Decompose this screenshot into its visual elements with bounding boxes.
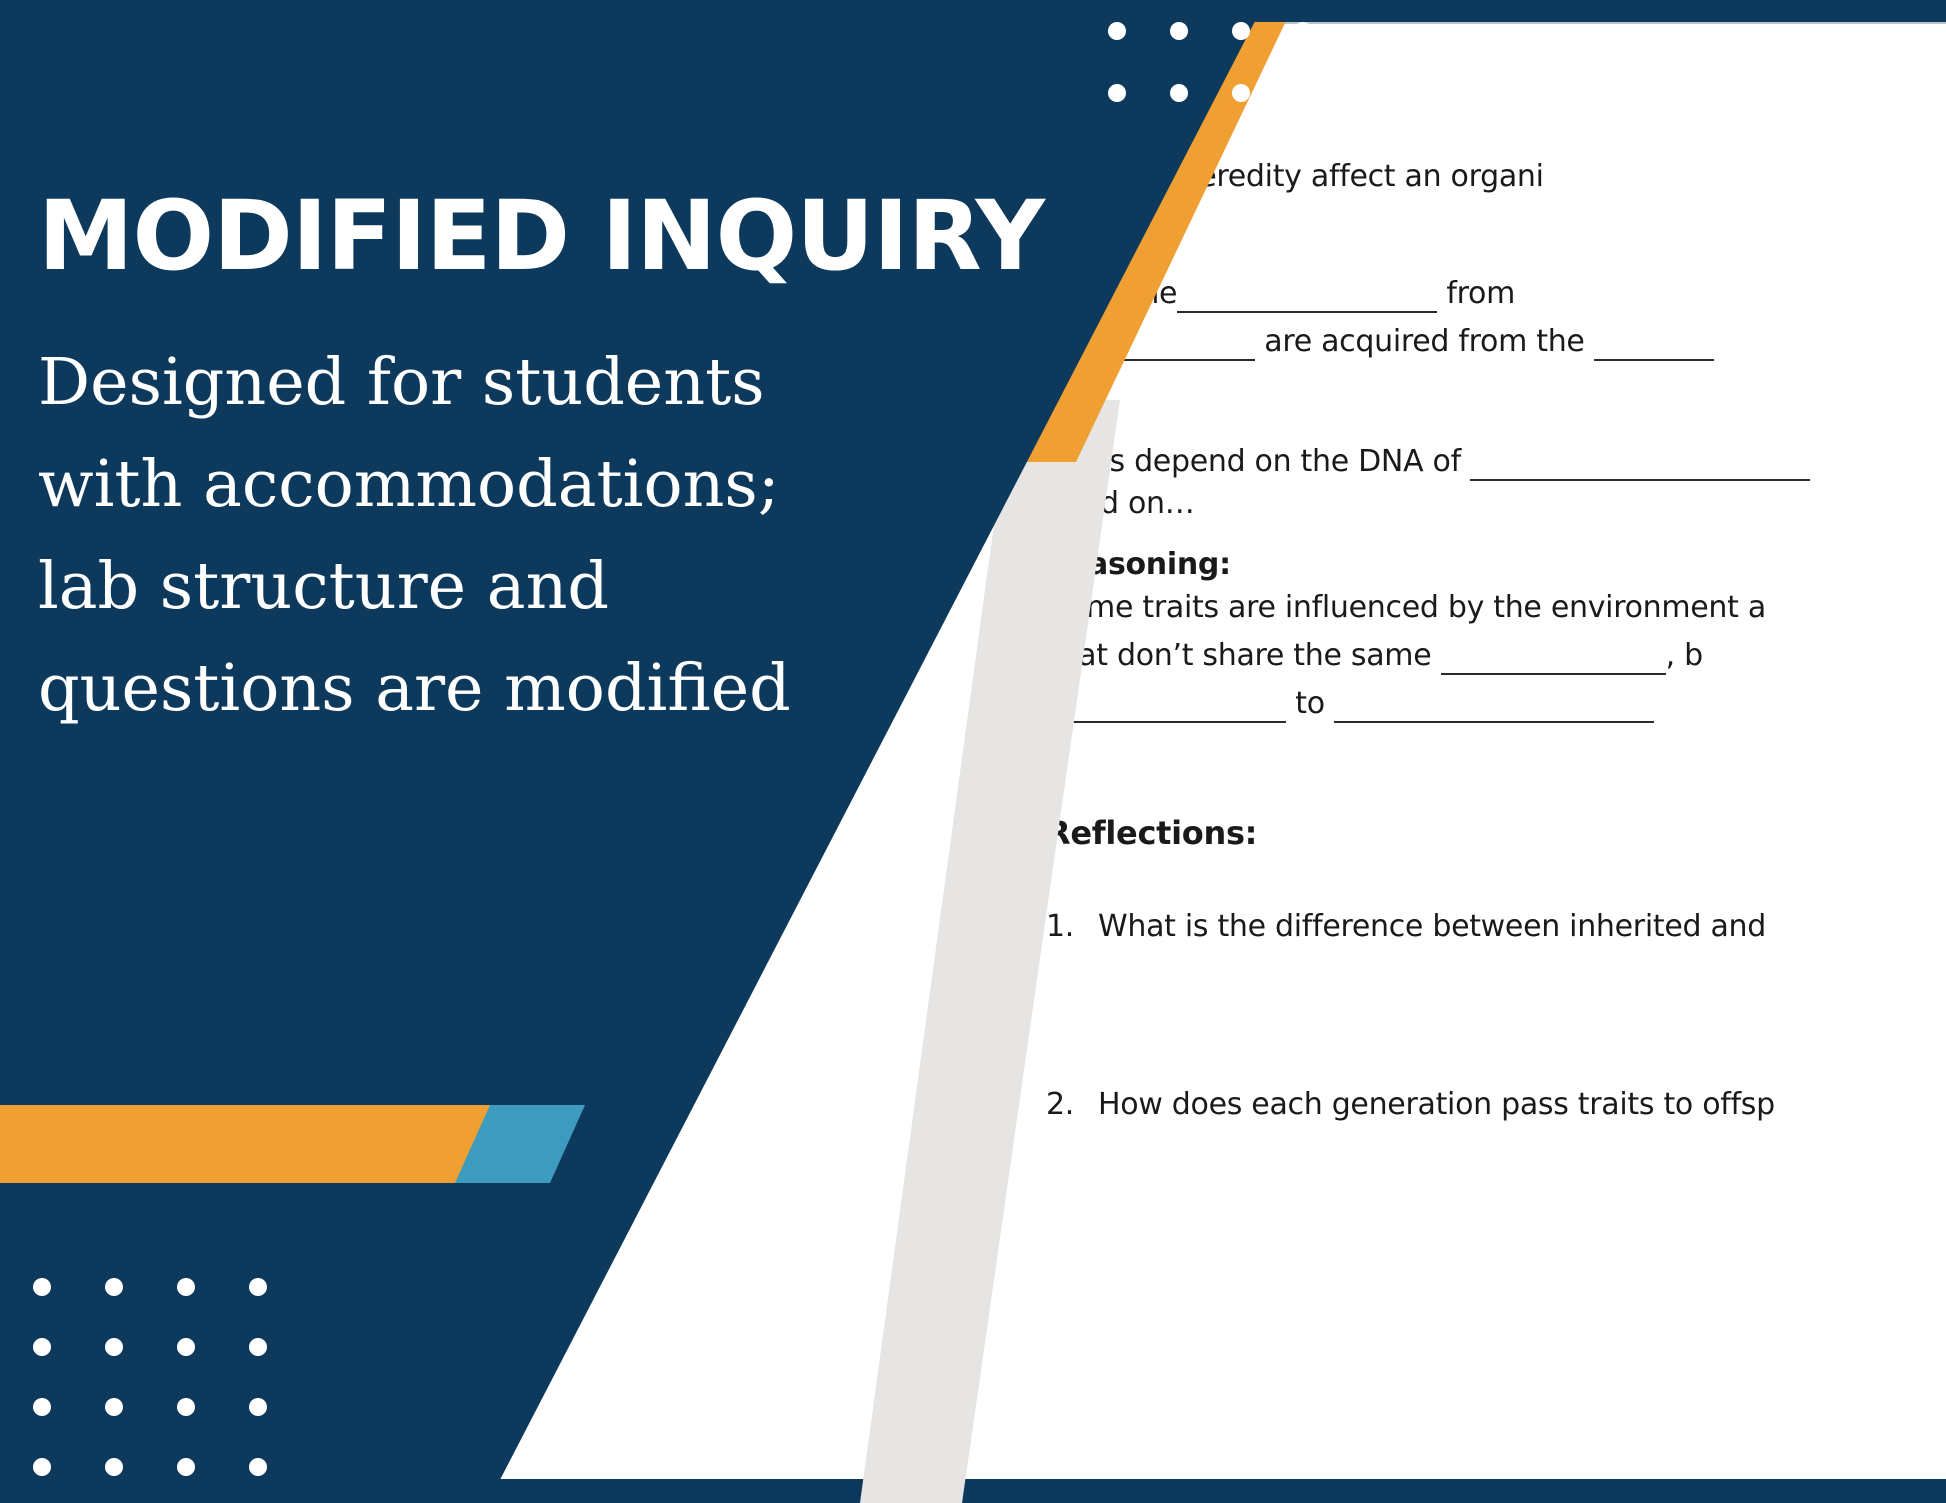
page-subtitle: Designed for students with accommodation… bbox=[38, 332, 898, 740]
dot-icon bbox=[33, 1398, 51, 1416]
dot-icon bbox=[177, 1458, 195, 1476]
worksheet-text-colon: : bbox=[1219, 547, 1231, 582]
dot-icon bbox=[105, 1338, 123, 1356]
worksheet-text: are acquired from the bbox=[1264, 324, 1584, 359]
dot-icon bbox=[249, 1338, 267, 1356]
worksheet-blank[interactable] bbox=[1334, 691, 1654, 723]
dot-icon bbox=[1170, 22, 1188, 40]
dot-icon bbox=[1232, 84, 1250, 102]
dot-grid-bottom-left bbox=[33, 1278, 267, 1476]
dot-icon bbox=[105, 1398, 123, 1416]
dot-icon bbox=[1170, 84, 1188, 102]
dot-icon bbox=[1108, 84, 1126, 102]
accent-bar-orange bbox=[0, 1105, 500, 1183]
page-title: MODIFIED INQUIRY bbox=[38, 188, 1048, 284]
dot-icon bbox=[177, 1398, 195, 1416]
dot-icon bbox=[1294, 22, 1312, 40]
worksheet-heading-reasoning: asoning: bbox=[1088, 547, 1231, 582]
worksheet-line-environment: ome traits are influenced by the environ… bbox=[1068, 590, 1766, 625]
worksheet-blank[interactable] bbox=[1177, 281, 1437, 313]
dot-icon bbox=[105, 1278, 123, 1296]
dot-icon bbox=[177, 1338, 195, 1356]
worksheet-text: its depend on the DNA of bbox=[1090, 444, 1461, 479]
worksheet-line-and-on: d on… bbox=[1100, 486, 1194, 521]
worksheet-blank[interactable] bbox=[1470, 449, 1810, 481]
worksheet-text: , b bbox=[1666, 638, 1703, 673]
worksheet-line-dna: its depend on the DNA of bbox=[1090, 444, 1810, 481]
worksheet-reflection-item-2: 2.How does each generation pass traits t… bbox=[1046, 1087, 1775, 1122]
worksheet-text: to bbox=[1295, 686, 1325, 721]
dot-icon bbox=[1232, 22, 1250, 40]
dot-icon bbox=[177, 1278, 195, 1296]
dot-icon bbox=[105, 1458, 123, 1476]
list-number: 1. bbox=[1046, 909, 1098, 944]
worksheet-text: ome traits are influenced by the environ… bbox=[1068, 590, 1766, 625]
dot-icon bbox=[1294, 84, 1312, 102]
dot-icon bbox=[33, 1338, 51, 1356]
worksheet-text: What is the difference between inherited… bbox=[1098, 909, 1766, 944]
dot-grid-top-right bbox=[1108, 22, 1312, 102]
worksheet-line-blank-to-blank: to bbox=[1036, 686, 1654, 723]
dot-icon bbox=[33, 1458, 51, 1476]
worksheet-text: from bbox=[1446, 276, 1515, 311]
worksheet-reflection-item-1: 1.What is the difference between inherit… bbox=[1046, 909, 1766, 944]
dot-icon bbox=[249, 1398, 267, 1416]
worksheet-line-same: that don’t share the same , b bbox=[1048, 638, 1703, 675]
dot-icon bbox=[1108, 22, 1126, 40]
worksheet-blank[interactable] bbox=[1441, 643, 1666, 675]
worksheet-heading-reflections: Reflections: bbox=[1046, 814, 1257, 852]
list-number: 2. bbox=[1046, 1087, 1098, 1122]
dot-icon bbox=[33, 1278, 51, 1296]
worksheet-text: d on… bbox=[1100, 486, 1194, 521]
worksheet-blank[interactable] bbox=[1594, 329, 1714, 361]
dot-icon bbox=[249, 1278, 267, 1296]
dot-icon bbox=[249, 1458, 267, 1476]
worksheet-text: asoning bbox=[1088, 547, 1219, 582]
worksheet-text: How does each generation pass traits to … bbox=[1098, 1087, 1775, 1122]
navy-top-strip bbox=[1250, 0, 1946, 22]
worksheet-text: that don’t share the same bbox=[1048, 638, 1431, 673]
worksheet-bottom-strip bbox=[500, 1479, 1946, 1503]
slide-canvas: does heredity affect an organi t some fr… bbox=[0, 0, 1946, 1503]
